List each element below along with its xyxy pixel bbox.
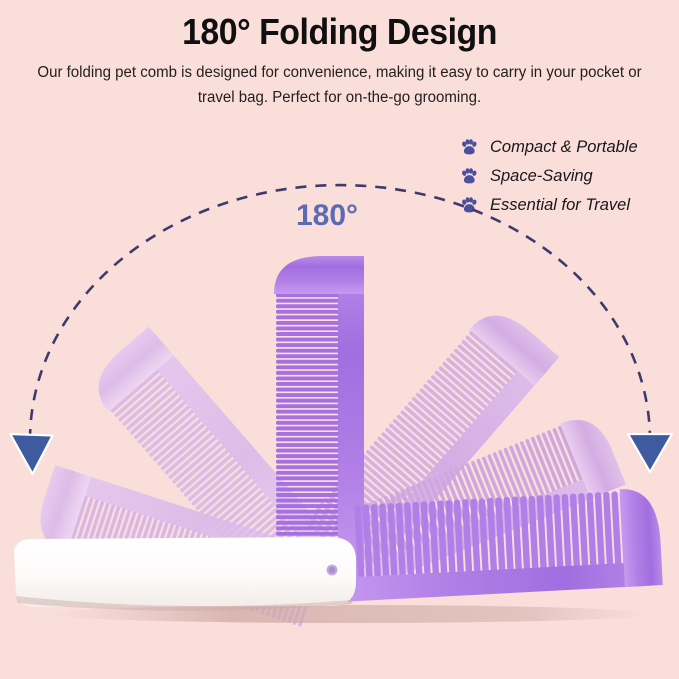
comb-handle	[14, 537, 356, 611]
angle-label: 180°	[296, 199, 358, 233]
handle-pivot-inner	[329, 567, 335, 573]
product-diagram	[0, 0, 679, 679]
arc-arrow-left	[10, 430, 56, 476]
arc-arrow-right	[628, 434, 672, 472]
comb	[274, 256, 364, 584]
infographic-canvas: 180° Folding Design Our folding pet comb…	[0, 0, 679, 679]
